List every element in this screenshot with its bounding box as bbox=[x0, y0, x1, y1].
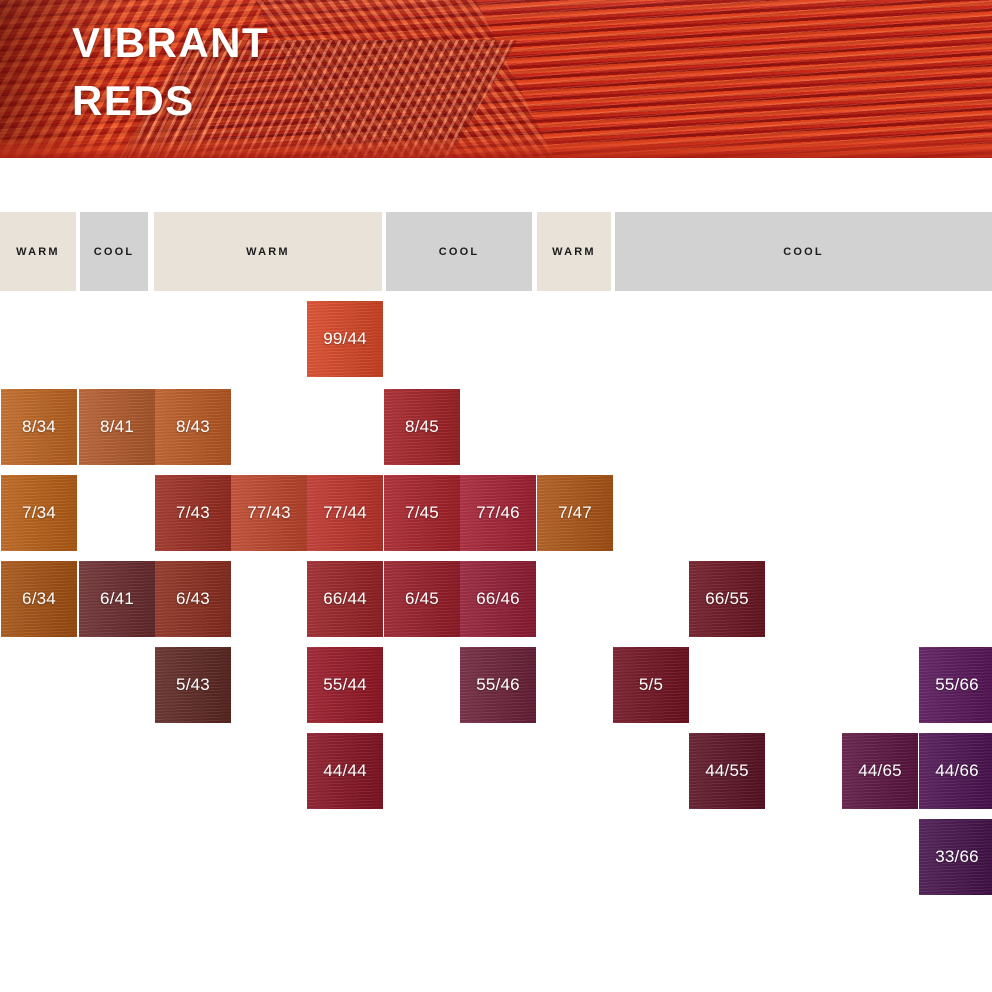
temperature-band: WARM bbox=[154, 212, 382, 291]
hero-banner: VIBRANT REDS bbox=[0, 0, 992, 158]
swatch-grid: 99/448/348/418/438/457/347/4377/4377/447… bbox=[0, 300, 992, 900]
swatch-label: 55/66 bbox=[935, 675, 979, 695]
color-swatch[interactable]: 77/43 bbox=[231, 475, 307, 551]
swatch-label: 77/43 bbox=[247, 503, 291, 523]
swatch-label: 99/44 bbox=[323, 329, 367, 349]
swatch-label: 6/41 bbox=[100, 589, 134, 609]
color-swatch[interactable]: 44/66 bbox=[919, 733, 992, 809]
color-swatch[interactable]: 7/45 bbox=[384, 475, 460, 551]
color-swatch[interactable]: 99/44 bbox=[307, 301, 383, 377]
temperature-band-label: COOL bbox=[783, 246, 824, 258]
color-swatch[interactable]: 5/5 bbox=[613, 647, 689, 723]
swatch-label: 8/41 bbox=[100, 417, 134, 437]
color-swatch[interactable]: 7/34 bbox=[1, 475, 77, 551]
color-swatch[interactable]: 7/47 bbox=[537, 475, 613, 551]
color-swatch[interactable]: 55/44 bbox=[307, 647, 383, 723]
swatch-label: 55/46 bbox=[476, 675, 520, 695]
temperature-band-label: COOL bbox=[94, 246, 135, 258]
temperature-band-label: WARM bbox=[246, 246, 290, 258]
swatch-label: 44/65 bbox=[858, 761, 902, 781]
color-swatch[interactable]: 44/55 bbox=[689, 733, 765, 809]
color-swatch[interactable]: 6/45 bbox=[384, 561, 460, 637]
swatch-label: 66/44 bbox=[323, 589, 367, 609]
color-swatch[interactable]: 44/65 bbox=[842, 733, 918, 809]
page-title: VIBRANT REDS bbox=[72, 14, 269, 130]
color-swatch[interactable]: 6/34 bbox=[1, 561, 77, 637]
color-swatch[interactable]: 8/34 bbox=[1, 389, 77, 465]
swatch-label: 44/55 bbox=[705, 761, 749, 781]
color-swatch[interactable]: 55/46 bbox=[460, 647, 536, 723]
color-swatch[interactable]: 6/41 bbox=[79, 561, 155, 637]
swatch-label: 6/45 bbox=[405, 589, 439, 609]
temperature-band: COOL bbox=[386, 212, 532, 291]
swatch-label: 6/43 bbox=[176, 589, 210, 609]
color-swatch[interactable]: 33/66 bbox=[919, 819, 992, 895]
color-chart-page: VIBRANT REDS WARMCOOLWARMCOOLWARMCOOL 99… bbox=[0, 0, 992, 992]
color-swatch[interactable]: 66/44 bbox=[307, 561, 383, 637]
swatch-label: 7/34 bbox=[22, 503, 56, 523]
swatch-label: 77/44 bbox=[323, 503, 367, 523]
swatch-label: 8/45 bbox=[405, 417, 439, 437]
swatch-label: 44/44 bbox=[323, 761, 367, 781]
swatch-label: 8/43 bbox=[176, 417, 210, 437]
swatch-label: 33/66 bbox=[935, 847, 979, 867]
swatch-label: 44/66 bbox=[935, 761, 979, 781]
temperature-band-row: WARMCOOLWARMCOOLWARMCOOL bbox=[0, 212, 992, 291]
temperature-band: WARM bbox=[0, 212, 76, 291]
color-swatch[interactable]: 44/44 bbox=[307, 733, 383, 809]
swatch-label: 66/46 bbox=[476, 589, 520, 609]
color-swatch[interactable]: 8/43 bbox=[155, 389, 231, 465]
swatch-label: 5/43 bbox=[176, 675, 210, 695]
color-swatch[interactable]: 8/41 bbox=[79, 389, 155, 465]
temperature-band-label: WARM bbox=[16, 246, 60, 258]
swatch-label: 7/43 bbox=[176, 503, 210, 523]
swatch-label: 6/34 bbox=[22, 589, 56, 609]
swatch-label: 7/45 bbox=[405, 503, 439, 523]
temperature-band-label: COOL bbox=[439, 246, 480, 258]
swatch-label: 66/55 bbox=[705, 589, 749, 609]
swatch-label: 7/47 bbox=[558, 503, 592, 523]
temperature-band: WARM bbox=[537, 212, 611, 291]
temperature-band-label: WARM bbox=[552, 246, 596, 258]
color-swatch[interactable]: 66/46 bbox=[460, 561, 536, 637]
swatch-label: 5/5 bbox=[639, 675, 663, 695]
color-swatch[interactable]: 66/55 bbox=[689, 561, 765, 637]
color-swatch[interactable]: 7/43 bbox=[155, 475, 231, 551]
swatch-label: 8/34 bbox=[22, 417, 56, 437]
color-swatch[interactable]: 6/43 bbox=[155, 561, 231, 637]
color-swatch[interactable]: 77/44 bbox=[307, 475, 383, 551]
color-swatch[interactable]: 5/43 bbox=[155, 647, 231, 723]
color-swatch[interactable]: 55/66 bbox=[919, 647, 992, 723]
color-swatch[interactable]: 8/45 bbox=[384, 389, 460, 465]
hero-bottom-fade bbox=[0, 136, 992, 158]
temperature-band: COOL bbox=[615, 212, 992, 291]
swatch-label: 77/46 bbox=[476, 503, 520, 523]
swatch-label: 55/44 bbox=[323, 675, 367, 695]
temperature-band: COOL bbox=[80, 212, 148, 291]
color-swatch[interactable]: 77/46 bbox=[460, 475, 536, 551]
